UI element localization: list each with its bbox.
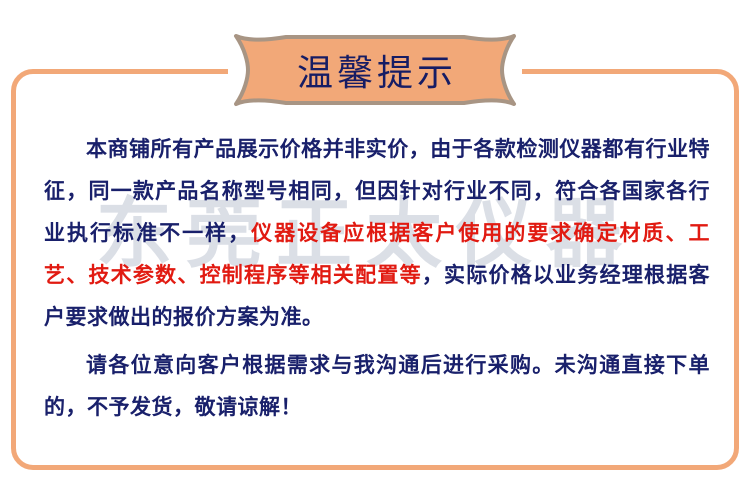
notice-body: 本商铺所有产品展示价格并非实价，由于各款检测仪器都有行业特征，同一款产品名称型号…	[44, 128, 710, 428]
notice-p2-segment-1: 请各位意向客户根据需求与我沟通后进行采购。未沟通直接下单的，不予发货，敬请谅解！	[44, 353, 710, 419]
banner-title: 温馨提示	[224, 33, 526, 107]
banner-ribbon: 温馨提示	[224, 33, 526, 107]
notice-paragraph-2: 请各位意向客户根据需求与我沟通后进行采购。未沟通直接下单的，不予发货，敬请谅解！	[44, 344, 710, 428]
notice-paragraph-1: 本商铺所有产品展示价格并非实价，由于各款检测仪器都有行业特征，同一款产品名称型号…	[44, 128, 710, 338]
notice-card: 东莞正太仪器 温馨提示 本商铺所有产品展示价格并非实价，由于各款检测仪器都有行业…	[0, 0, 750, 500]
